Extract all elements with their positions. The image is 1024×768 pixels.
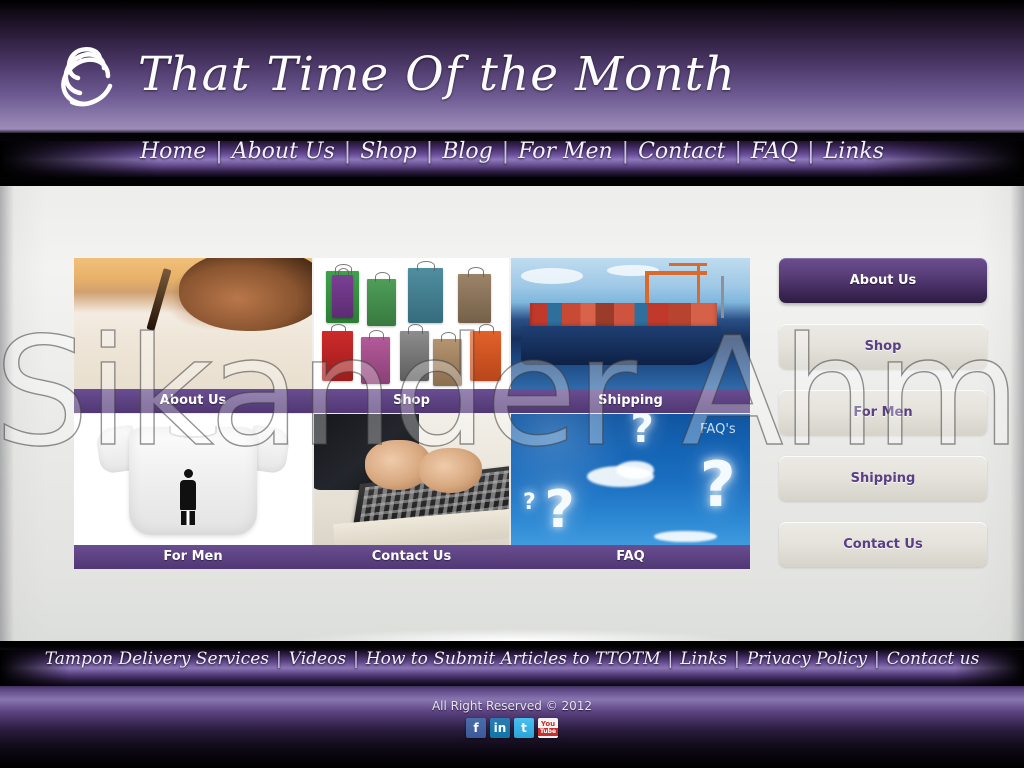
- tile-label-shop[interactable]: Shop: [314, 389, 509, 413]
- footer-nav-item-privacy-policy[interactable]: Privacy Policy: [747, 649, 867, 669]
- tile-label-shipping[interactable]: Shipping: [511, 389, 750, 413]
- tile-shipping[interactable]: [511, 258, 750, 389]
- side-button-shipping[interactable]: Shipping: [779, 456, 987, 501]
- nav-separator: |: [344, 139, 351, 164]
- nav-item-faq[interactable]: FAQ: [751, 139, 798, 164]
- footer-nav-list: Tampon Delivery Services|Videos|How to S…: [0, 641, 1024, 677]
- footer-nav-separator: |: [734, 649, 740, 669]
- linkedin-icon[interactable]: in: [490, 718, 510, 738]
- nav-separator: |: [622, 139, 629, 164]
- nav-item-shop[interactable]: Shop: [360, 139, 417, 164]
- nav-separator: |: [215, 139, 222, 164]
- nav-separator: |: [426, 139, 433, 164]
- main-navigation: Home|About Us|Shop|Blog|For Men|Contact|…: [0, 133, 1024, 186]
- nav-item-home[interactable]: Home: [140, 139, 206, 164]
- side-button-contact-us[interactable]: Contact Us: [779, 522, 987, 567]
- site-header: That Time Of the Month: [0, 0, 1024, 133]
- faq-overlay-text: FAQ's: [700, 422, 736, 437]
- nav-item-contact[interactable]: Contact: [638, 139, 725, 164]
- tile-about-us[interactable]: [74, 258, 312, 389]
- main-nav-list: Home|About Us|Shop|Blog|For Men|Contact|…: [0, 133, 1024, 169]
- footer-nav-item-videos[interactable]: Videos: [289, 649, 346, 669]
- hands-on-keyboard-image: [314, 414, 509, 545]
- content-bottom-shadow: [300, 629, 730, 641]
- footer-nav-separator: |: [353, 649, 359, 669]
- twitter-icon[interactable]: t: [514, 718, 534, 738]
- footer-nav-item-how-to-submit-articles-to-ttotm[interactable]: How to Submit Articles to TTOTM: [366, 649, 661, 669]
- nav-separator: |: [807, 139, 814, 164]
- youtube-label-top: You: [541, 720, 555, 728]
- tile-for-men[interactable]: [74, 414, 312, 545]
- nav-item-links[interactable]: Links: [824, 139, 884, 164]
- footer-nav-separator: |: [276, 649, 282, 669]
- tile-label-contact-us[interactable]: Contact Us: [314, 545, 509, 569]
- site-title: That Time Of the Month: [138, 47, 736, 102]
- tile-row: About Us Shop Shipping: [74, 258, 750, 413]
- nav-item-for-men[interactable]: For Men: [518, 139, 613, 164]
- tile-shop[interactable]: [314, 258, 509, 389]
- cloud-question-marks-image: ? ? ? ? FAQ's: [511, 414, 750, 545]
- side-button-for-men[interactable]: For Men: [779, 390, 987, 435]
- nav-separator: |: [502, 139, 509, 164]
- footer-nav-separator: |: [874, 649, 880, 669]
- tile-faq[interactable]: ? ? ? ? FAQ's: [511, 414, 750, 545]
- nav-item-about-us[interactable]: About Us: [232, 139, 335, 164]
- tile-contact-us[interactable]: [314, 414, 509, 545]
- wave-swirl-logo-icon[interactable]: [42, 42, 120, 114]
- footer-nav-item-contact-us[interactable]: Contact us: [887, 649, 980, 669]
- category-tile-grid: About Us Shop Shipping: [74, 258, 750, 569]
- tile-row: ? ? ? ? FAQ's For Men Contact Us FAQ: [74, 414, 750, 569]
- tile-label-faq[interactable]: FAQ: [511, 545, 750, 569]
- cargo-ship-image: [511, 258, 750, 389]
- facebook-icon[interactable]: f: [466, 718, 486, 738]
- footer-nav-separator: |: [668, 649, 674, 669]
- copyright-text: All Right Reserved © 2012: [0, 699, 1024, 713]
- footer-nav-item-tampon-delivery-services[interactable]: Tampon Delivery Services: [45, 649, 269, 669]
- side-button-column: About UsShopFor MenShippingContact Us: [779, 258, 987, 588]
- youtube-label-bottom: Tube: [538, 728, 558, 736]
- nav-separator: |: [734, 139, 741, 164]
- shopping-bags-image: [314, 258, 509, 389]
- nav-item-blog[interactable]: Blog: [442, 139, 493, 164]
- tile-label-for-men[interactable]: For Men: [74, 545, 312, 569]
- side-button-shop[interactable]: Shop: [779, 324, 987, 369]
- social-icon-row: fintYouTube: [0, 718, 1024, 738]
- footer-nav-item-links[interactable]: Links: [680, 649, 727, 669]
- hand-writing-image: [74, 258, 312, 389]
- side-button-about-us[interactable]: About Us: [779, 258, 987, 303]
- tile-label-about-us[interactable]: About Us: [74, 389, 312, 413]
- page-root: That Time Of the Month Home|About Us|Sho…: [0, 0, 1024, 768]
- white-tshirt-image: [74, 414, 312, 545]
- youtube-icon[interactable]: YouTube: [538, 718, 558, 738]
- main-content-area: About Us Shop Shipping: [0, 186, 1024, 641]
